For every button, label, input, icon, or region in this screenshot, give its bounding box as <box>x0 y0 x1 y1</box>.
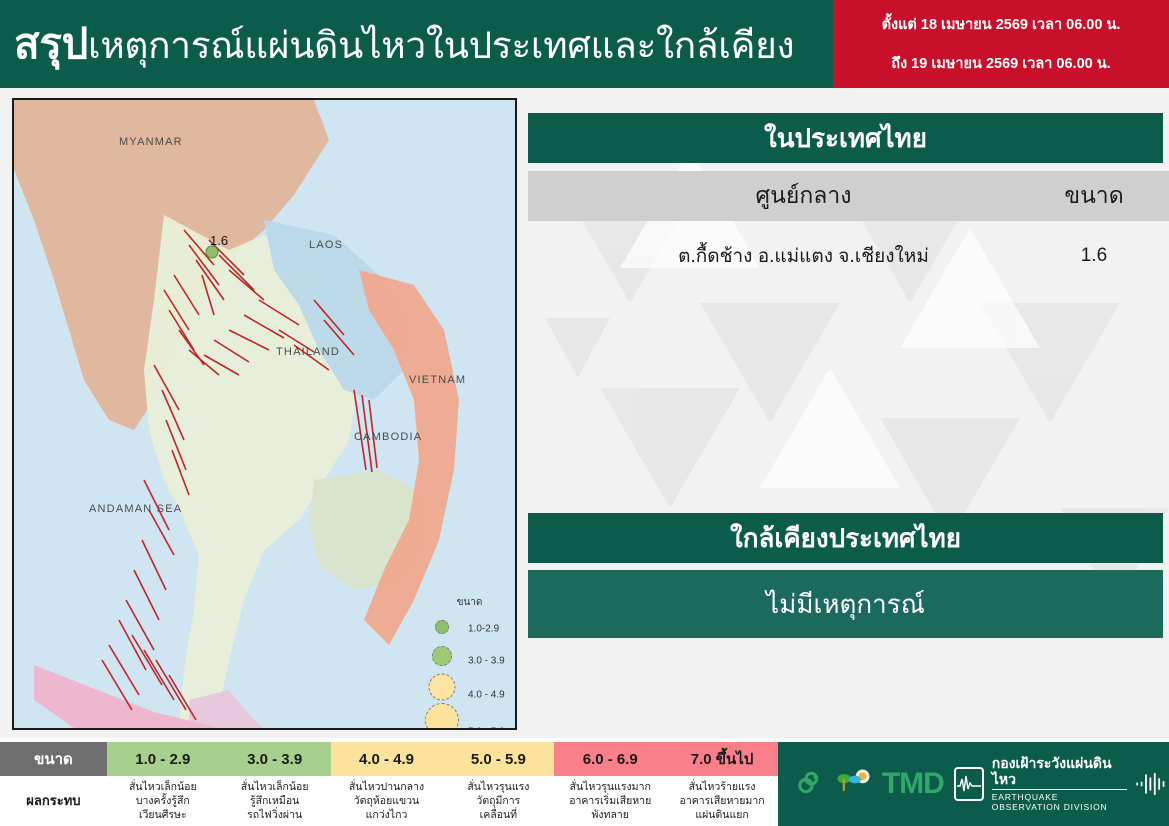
neighbor-panel-empty-message: ไม่มีเหตุการณ์ <box>528 570 1163 638</box>
impact-line: วัตถุมีการ <box>476 794 520 808</box>
scale-range: 7.0 ขึ้นไป <box>666 742 778 776</box>
earthquake-map[interactable]: MYANMAR LAOS THAILAND VIETNAM CAMBODIA A… <box>12 98 517 730</box>
scale-range: 6.0 - 6.9 <box>554 742 666 776</box>
scale-impact: สั่นไหวร้ายแรง อาคารเสียหายมาก แผ่นดินแย… <box>666 776 778 826</box>
column-header-magnitude: ขนาด <box>1019 178 1169 214</box>
scale-range: 1.0 - 2.9 <box>107 742 219 776</box>
page-header: สรุปเหตุการณ์แผ่นดินไหวในประเทศและใกล้เค… <box>0 0 1169 88</box>
scale-range: 4.0 - 4.9 <box>331 742 443 776</box>
divider <box>992 789 1128 790</box>
page-title-strong: สรุป <box>14 20 88 67</box>
division-name-en: EARTHQUAKE OBSERVATION DIVISION <box>992 792 1128 812</box>
scale-label-magnitude: ขนาด <box>0 742 107 776</box>
eod-logo: กองเฝ้าระวังแผ่นดินไหว EARTHQUAKE OBSERV… <box>954 756 1169 812</box>
impact-line: อาคารเสียหายมาก <box>680 794 765 808</box>
impact-line: สั่นไหวร้ายแรง <box>689 780 756 794</box>
thailand-panel-heading: ในประเทศไทย <box>528 113 1163 163</box>
scale-label-impact: ผลกระทบ <box>0 776 107 826</box>
map-label-thailand: THAILAND <box>276 346 340 358</box>
header-date-band: ตั้งแต่ 18 เมษายน 2569 เวลา 06.00 น. ถึง… <box>833 0 1169 88</box>
date-range-to: ถึง 19 เมษายน 2569 เวลา 06.00 น. <box>891 52 1110 75</box>
legend-dot-icon <box>432 646 452 666</box>
scale-column: 3.0 - 3.9 สั่นไหวเล็กน้อย รู้สึกเหมือน ร… <box>219 742 331 826</box>
scale-column: 4.0 - 4.9 สั่นไหวปานกลาง วัตถุห้อยแขวน แ… <box>331 742 443 826</box>
impact-line: เคลื่อนที่ <box>480 808 517 822</box>
legend-dot-label: 5.0 - 5.9 <box>468 726 505 730</box>
impact-line: สั่นไหวปานกลาง <box>349 780 424 794</box>
impact-line: สั่นไหวรุนแรง <box>467 780 529 794</box>
scale-impact: สั่นไหวเล็กน้อย รู้สึกเหมือน รถไฟวิ่งผ่า… <box>219 776 331 826</box>
thailand-table-header: ศูนย์กลาง ขนาด <box>528 171 1169 221</box>
magnitude-scale-table: ขนาด ผลกระทบ 1.0 - 2.9 สั่นไหวเล็กน้อย บ… <box>0 742 778 826</box>
scale-impact: สั่นไหวปานกลาง วัตถุห้อยแขวน แกว่งไกว <box>331 776 443 826</box>
legend-dot-icon <box>435 620 449 634</box>
impact-line: รู้สึกเหมือน <box>250 794 299 808</box>
division-name-th: กองเฝ้าระวังแผ่นดินไหว <box>992 756 1128 787</box>
map-legend-title: ขนาด <box>422 595 517 610</box>
impact-line: บางครั้งรู้สึก <box>136 794 190 808</box>
page-title-rest: เหตุการณ์แผ่นดินไหวในประเทศและใกล้เคียง <box>88 25 794 66</box>
legend-dot-label: 4.0 - 4.9 <box>468 689 505 700</box>
date-range-from: ตั้งแต่ 18 เมษายน 2569 เวลา 06.00 น. <box>882 13 1121 36</box>
scale-impact: สั่นไหวรุนแรงมาก อาคารเริ่มเสียหาย พังทล… <box>554 776 666 826</box>
eod-text-block: กองเฝ้าระวังแผ่นดินไหว EARTHQUAKE OBSERV… <box>992 756 1128 812</box>
cell-magnitude: 1.6 <box>1019 245 1169 267</box>
map-legend: ขนาด 1.0-2.9 3.0 - 3.9 4.0 - 4.9 5.0 - 5… <box>422 595 517 730</box>
legend-dot-icon <box>425 703 459 730</box>
impact-line: แกว่งไกว <box>366 808 408 822</box>
waveform-icon <box>1135 768 1169 800</box>
scale-impact: สั่นไหวรุนแรง วัตถุมีการ เคลื่อนที่ <box>442 776 554 826</box>
scale-column: 6.0 - 6.9 สั่นไหวรุนแรงมาก อาคารเริ่มเสี… <box>554 742 666 826</box>
legend-dot-label: 3.0 - 3.9 <box>468 655 505 666</box>
map-label-vietnam: VIETNAM <box>409 374 466 386</box>
map-label-andaman-sea: ANDAMAN SEA <box>89 503 182 515</box>
header-title-band: สรุปเหตุการณ์แผ่นดินไหวในประเทศและใกล้เค… <box>0 0 833 88</box>
map-label-cambodia: CAMBODIA <box>354 431 422 443</box>
scale-column: 1.0 - 2.9 สั่นไหวเล็กน้อย บางครั้งรู้สึก… <box>107 742 219 826</box>
legend-dot-icon <box>429 673 456 700</box>
scale-column: 5.0 - 5.9 สั่นไหวรุนแรง วัตถุมีการ เคลื่… <box>442 742 554 826</box>
scale-impact: สั่นไหวเล็กน้อย บางครั้งรู้สึก เวียนศีรษ… <box>107 776 219 826</box>
impact-line: วัตถุห้อยแขวน <box>354 794 419 808</box>
page-footer: ขนาด ผลกระทบ 1.0 - 2.9 สั่นไหวเล็กน้อย บ… <box>0 742 1169 826</box>
impact-line: อาคารเริ่มเสียหาย <box>569 794 651 808</box>
scale-row-labels: ขนาด ผลกระทบ <box>0 742 107 826</box>
tmd-logo-text: TMD <box>882 767 944 801</box>
map-label-myanmar: MYANMAR <box>119 136 183 148</box>
column-header-center: ศูนย์กลาง <box>528 178 1019 214</box>
impact-line: เวียนศีรษะ <box>139 808 187 822</box>
scale-range: 3.0 - 3.9 <box>219 742 331 776</box>
footer-branding: TMD กองเฝ้าระวังแผ่นดินไหว EARTHQUAKE OB… <box>778 742 1169 826</box>
seismograph-icon <box>954 767 984 801</box>
scale-range: 5.0 - 5.9 <box>442 742 554 776</box>
impact-line: สั่นไหวเล็กน้อย <box>129 780 197 794</box>
neighbor-panel-heading: ใกล้เคียงประเทศไทย <box>528 513 1163 563</box>
cell-epicenter: ต.กื้ดช้าง อ.แม่แตง จ.เชียงใหม่ <box>528 241 1019 271</box>
impact-line: แผ่นดินแยก <box>695 808 748 822</box>
scale-column: 7.0 ขึ้นไป สั่นไหวร้ายแรง อาคารเสียหายมา… <box>666 742 778 826</box>
tmd-swirl-icon <box>796 764 822 804</box>
impact-line: พังทลาย <box>592 808 629 822</box>
impact-line: สั่นไหวรุนแรงมาก <box>570 780 651 794</box>
tmd-cloud-sun-icon <box>832 764 872 804</box>
page-title: สรุปเหตุการณ์แผ่นดินไหวในประเทศและใกล้เค… <box>14 23 794 65</box>
impact-line: รถไฟวิ่งผ่าน <box>247 808 302 822</box>
impact-line: สั่นไหวเล็กน้อย <box>241 780 309 794</box>
table-row[interactable]: ต.กื้ดช้าง อ.แม่แตง จ.เชียงใหม่ 1.6 <box>528 235 1169 277</box>
legend-dot-label: 1.0-2.9 <box>468 623 499 634</box>
map-label-laos: LAOS <box>309 239 343 251</box>
